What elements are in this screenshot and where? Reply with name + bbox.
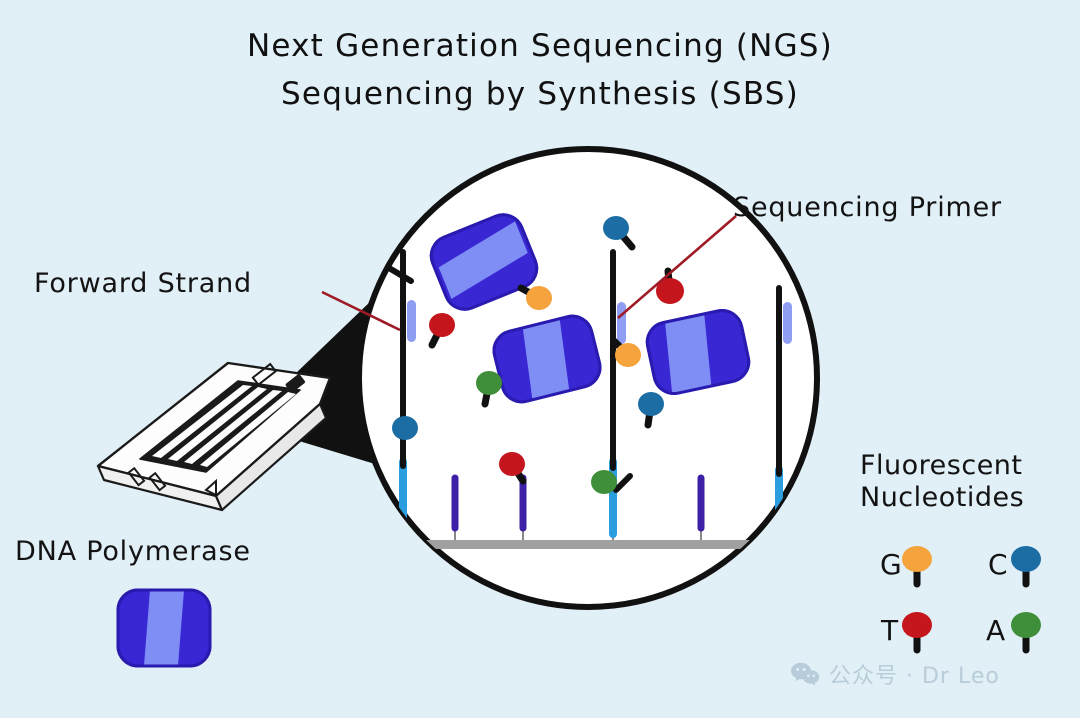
fluorescent-nucleotides-label: Fluorescent Nucleotides — [860, 450, 1075, 514]
fluorescent-line-2: Nucleotides — [860, 482, 1075, 514]
legend-glyph-A — [1011, 612, 1041, 650]
nucleotide-A-2 — [591, 470, 617, 494]
sequencing-primer-segment — [407, 300, 416, 342]
legend-letter-T: T — [881, 614, 898, 647]
dna-polymerase-label: DNA Polymerase — [15, 536, 251, 567]
fluorescent-line-1: Fluorescent — [860, 450, 1075, 482]
sequencing-primer-label: Sequencing Primer — [733, 192, 1002, 223]
watermark-text: 公众号 · Dr Leo — [829, 658, 1000, 690]
legend-glyph-G — [902, 546, 932, 584]
legend-letter-G: G — [880, 548, 902, 581]
wechat-icon — [790, 662, 820, 686]
diagram-artwork — [0, 0, 1080, 718]
sequencing-primer-segment — [783, 302, 792, 344]
legend-glyph-C — [1011, 546, 1041, 584]
legend-glyph-T — [902, 612, 932, 650]
sequencing-primer-segment — [617, 302, 626, 344]
watermark: 公众号 · Dr Leo — [790, 658, 1000, 690]
flow-cell-slide — [98, 363, 330, 510]
forward-strand-label: Forward Strand — [34, 268, 252, 299]
nucleotide-C-3 — [392, 416, 418, 440]
legend-letter-C: C — [988, 548, 1008, 581]
diagram-canvas: Next Generation Sequencing (NGS) Sequenc… — [0, 0, 1080, 718]
legend-letter-A: A — [986, 614, 1005, 647]
polymerase-legend-glyph — [118, 590, 210, 666]
